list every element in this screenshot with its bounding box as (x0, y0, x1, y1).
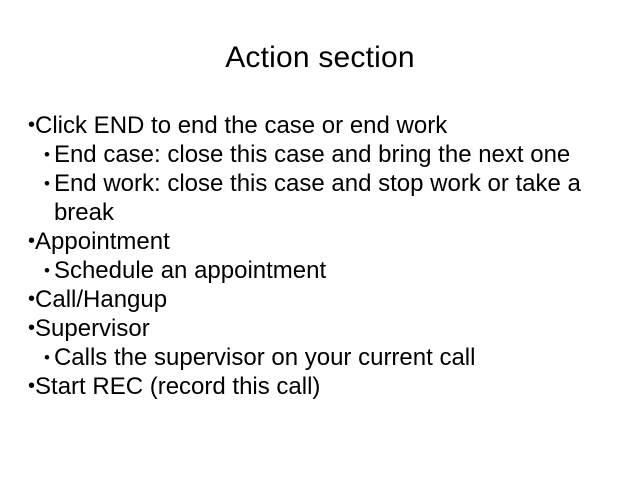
slide-body-content: • Click END to end the case or end work … (28, 111, 620, 401)
list-item-label: End work: close this case and stop work … (54, 169, 620, 227)
list-item-label: Call/Hangup (35, 285, 620, 314)
bullet-icon: • (28, 314, 35, 343)
list-item-label: Appointment (35, 227, 620, 256)
page-title: Action section (0, 40, 640, 76)
list-item-label: Supervisor (35, 314, 620, 343)
list-item: • End case: close this case and bring th… (28, 140, 620, 169)
bullet-icon: • (28, 111, 35, 140)
bullet-icon: • (44, 140, 50, 169)
bullet-icon: • (28, 227, 35, 256)
list-item: • Click END to end the case or end work (28, 111, 620, 140)
bullet-icon: • (28, 372, 35, 401)
list-item: • Schedule an appointment (28, 256, 620, 285)
bullet-icon: • (44, 256, 50, 285)
presentation-slide: Action section • Click END to end the ca… (0, 0, 640, 480)
list-item: • Start REC (record this call) (28, 372, 620, 401)
bullet-icon: • (44, 343, 50, 372)
list-item: • Calls the supervisor on your current c… (28, 343, 620, 372)
list-item-label: Click END to end the case or end work (35, 111, 620, 140)
list-item-label: Schedule an appointment (54, 256, 620, 285)
list-item: • Call/Hangup (28, 285, 620, 314)
bullet-icon: • (44, 169, 50, 198)
list-item-label: Calls the supervisor on your current cal… (54, 343, 620, 372)
list-item: • End work: close this case and stop wor… (28, 169, 620, 227)
list-item: • Appointment (28, 227, 620, 256)
bullet-icon: • (28, 285, 35, 314)
list-item-label: Start REC (record this call) (35, 372, 620, 401)
list-item-label: End case: close this case and bring the … (54, 140, 620, 169)
list-item: • Supervisor (28, 314, 620, 343)
